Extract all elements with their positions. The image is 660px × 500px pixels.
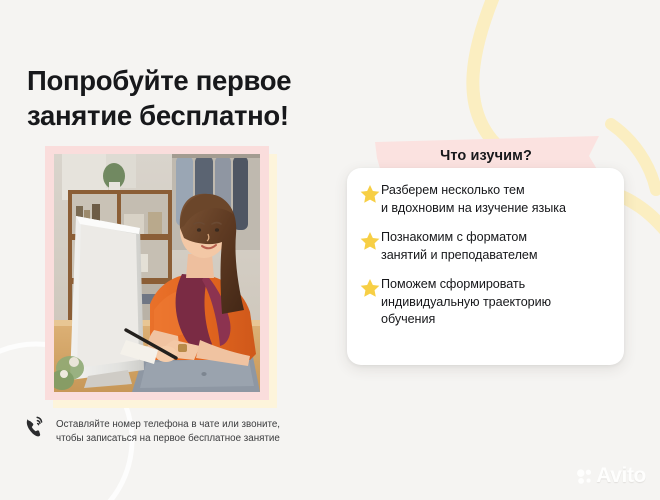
feature-line-2: занятий и преподавателем	[381, 248, 537, 262]
star-icon	[359, 183, 381, 205]
feature-text: Разберем несколько тем и вдохновим на из…	[381, 182, 566, 217]
feature-line-1: Разберем несколько тем	[381, 183, 525, 197]
feature-line-1: Поможем сформировать	[381, 277, 525, 291]
feature-line-2: и вдохновим на изучение языка	[381, 201, 566, 215]
list-item: Разберем несколько тем и вдохновим на из…	[357, 182, 610, 217]
star-icon	[359, 277, 381, 299]
photo-frame	[45, 146, 269, 400]
caption-line-1: Оставляйте номер телефона в чате или зво…	[56, 418, 280, 432]
feature-line-2: индивидуальную траекторию	[381, 295, 551, 309]
contact-caption: Оставляйте номер телефона в чате или зво…	[24, 414, 424, 446]
avito-watermark: Avito	[576, 464, 646, 488]
avito-wordmark: Avito	[596, 464, 646, 488]
headline-line-1: Попробуйте первое	[27, 63, 427, 98]
feature-text: Поможем сформировать индивидуальную трае…	[381, 276, 551, 329]
phone-call-icon	[24, 414, 48, 442]
list-item: Познакомим с форматом занятий и преподав…	[357, 229, 610, 264]
feature-list: Разберем несколько тем и вдохновим на из…	[357, 182, 610, 329]
feature-text: Познакомим с форматом занятий и преподав…	[381, 229, 537, 264]
avito-dots-icon	[576, 468, 593, 485]
star-icon	[359, 230, 381, 252]
promo-banner: Попробуйте первое занятие бесплатно!	[0, 0, 660, 500]
feature-line-1: Познакомим с форматом	[381, 230, 527, 244]
caption-line-2: чтобы записаться на первое бесплатное за…	[56, 432, 280, 446]
feature-line-3: обучения	[381, 312, 435, 326]
list-item: Поможем сформировать индивидуальную трае…	[357, 276, 610, 329]
student-photo	[54, 154, 260, 392]
caption-text: Оставляйте номер телефона в чате или зво…	[56, 414, 280, 446]
page-title: Попробуйте первое занятие бесплатно!	[27, 63, 427, 133]
features-card: Разберем несколько тем и вдохновим на из…	[347, 168, 624, 365]
headline-line-2: занятие бесплатно!	[27, 98, 427, 133]
